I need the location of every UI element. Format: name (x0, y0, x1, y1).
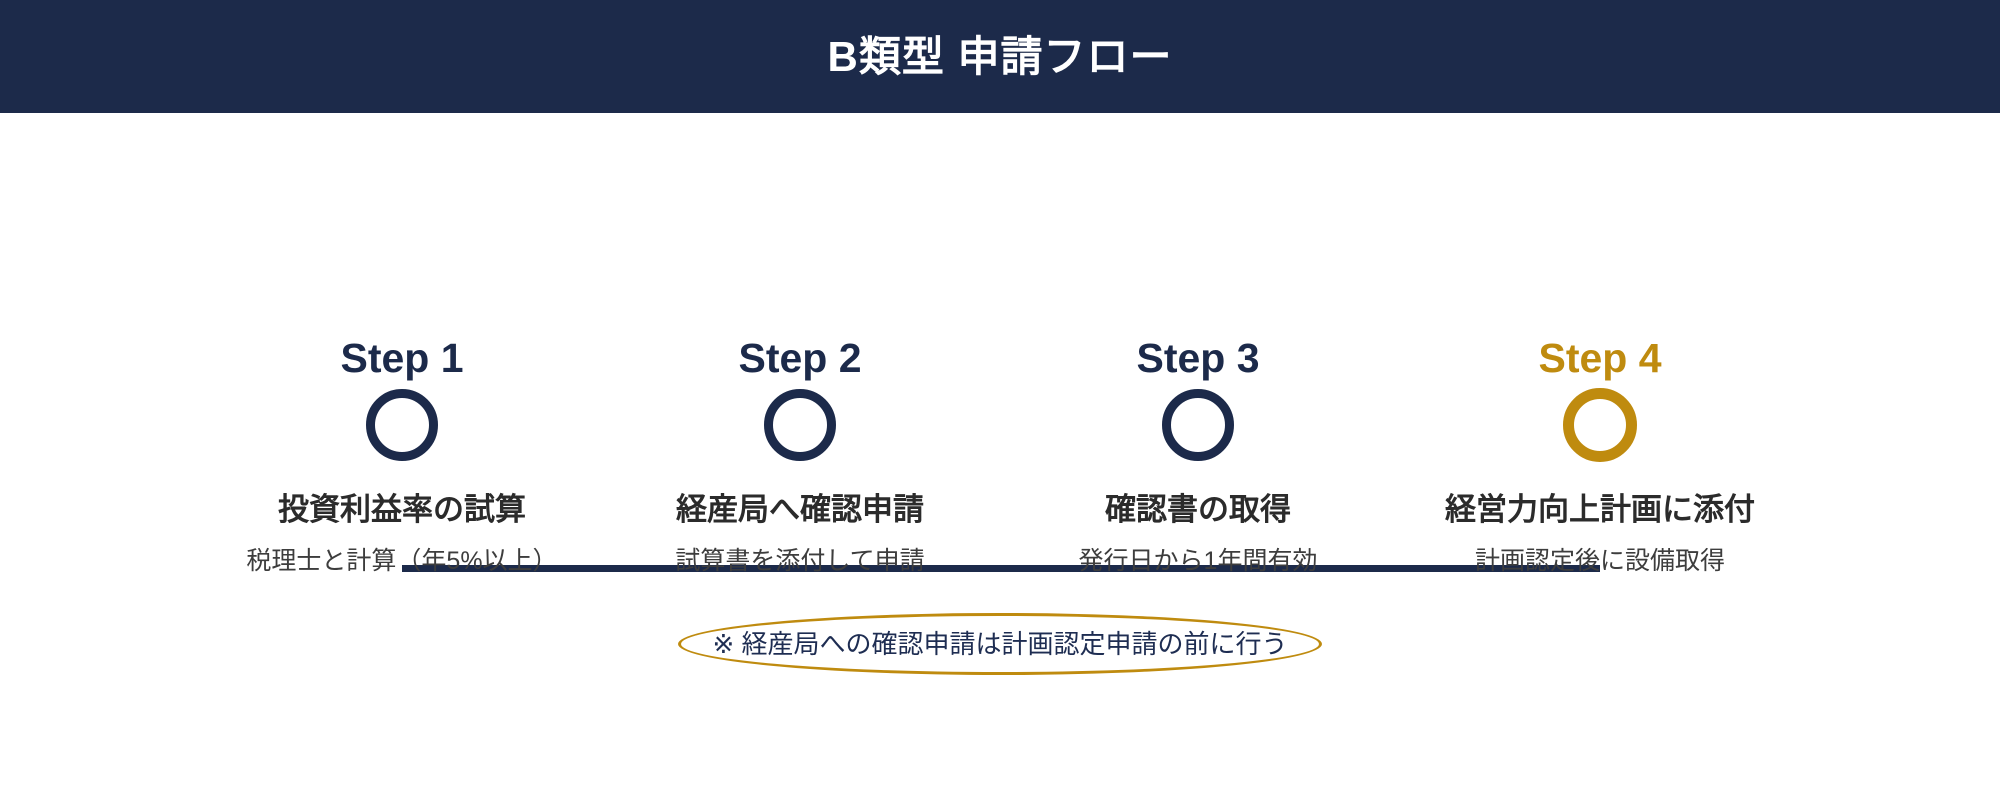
step-4-title: 経営力向上計画に添付 (1420, 494, 1780, 525)
step-circle-icon (1162, 389, 1234, 461)
step-circle-icon (764, 389, 836, 461)
step-1-title: 投資利益率の試算 (222, 494, 582, 525)
footnote-text: ※ 経産局への確認申請は計画認定申請の前に行う (678, 613, 1322, 675)
step-3-title: 確認書の取得 (1018, 494, 1378, 525)
step-2-description: 試算書を添付して申請 (620, 549, 980, 574)
flow-diagram: Step 1 投資利益率の試算 税理士と計算（年5%以上） Step 2 経産局… (0, 113, 2000, 800)
footnote-callout: ※ 経産局への確認申請は計画認定申請の前に行う (678, 613, 1322, 675)
step-1-label: Step 1 (222, 338, 582, 382)
step-circle-highlight-icon (1563, 388, 1637, 462)
step-2-label: Step 2 (620, 338, 980, 382)
flow-step-2: Step 2 経産局へ確認申請 試算書を添付して申請 (620, 338, 980, 574)
step-3-label: Step 3 (1018, 338, 1378, 382)
flow-step-4: Step 4 経営力向上計画に添付 計画認定後に設備取得 (1420, 338, 1780, 574)
header-band: B類型 申請フロー (0, 0, 2000, 113)
step-1-node-row (222, 382, 582, 468)
step-1-description: 税理士と計算（年5%以上） (222, 549, 582, 574)
step-4-node-row (1420, 382, 1780, 468)
flow-step-1: Step 1 投資利益率の試算 税理士と計算（年5%以上） (222, 338, 582, 574)
flow-step-3: Step 3 確認書の取得 発行日から1年間有効 (1018, 338, 1378, 574)
step-3-description: 発行日から1年間有効 (1018, 549, 1378, 574)
step-4-description: 計画認定後に設備取得 (1420, 549, 1780, 574)
step-4-label: Step 4 (1420, 338, 1780, 382)
page-title: B類型 申請フロー (827, 36, 1172, 78)
step-circle-icon (366, 389, 438, 461)
step-3-node-row (1018, 382, 1378, 468)
step-2-title: 経産局へ確認申請 (620, 494, 980, 525)
step-2-node-row (620, 382, 980, 468)
